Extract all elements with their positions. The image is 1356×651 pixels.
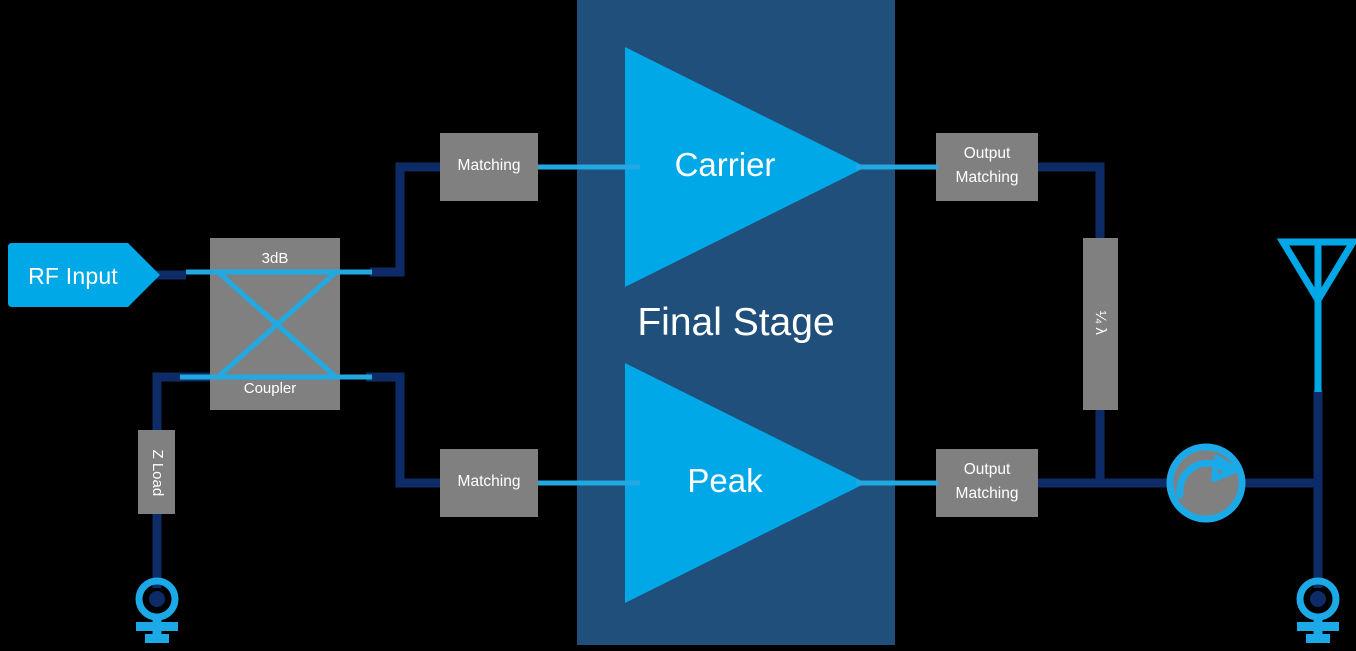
diagram-canvas: RF Input 3dB Coupler Z Load Matching Mat…	[0, 0, 1356, 651]
diagram-svg	[0, 0, 1356, 651]
output-matching-carrier-block[interactable]	[936, 133, 1038, 201]
zload-block[interactable]	[138, 430, 175, 514]
ground-icon-left[interactable]	[136, 581, 178, 643]
output-matching-peak-block[interactable]	[936, 449, 1038, 517]
antenna-icon[interactable]	[1283, 242, 1353, 392]
wire-coupler-to-matching-carrier	[370, 167, 442, 272]
final-stage-block[interactable]	[577, 0, 895, 645]
ground-icon-right[interactable]	[1297, 581, 1339, 643]
rf-input-banner[interactable]	[8, 243, 160, 307]
wire-coupler-to-zload	[157, 377, 210, 432]
circulator-icon[interactable]	[1170, 447, 1242, 519]
wire-coupler-to-matching-peak	[366, 377, 442, 483]
matching-carrier-block[interactable]	[440, 133, 538, 201]
quarter-wave-block[interactable]	[1083, 238, 1118, 410]
wire-outmatch-carrier-to-lambda	[1038, 167, 1100, 240]
matching-peak-block[interactable]	[440, 449, 538, 517]
